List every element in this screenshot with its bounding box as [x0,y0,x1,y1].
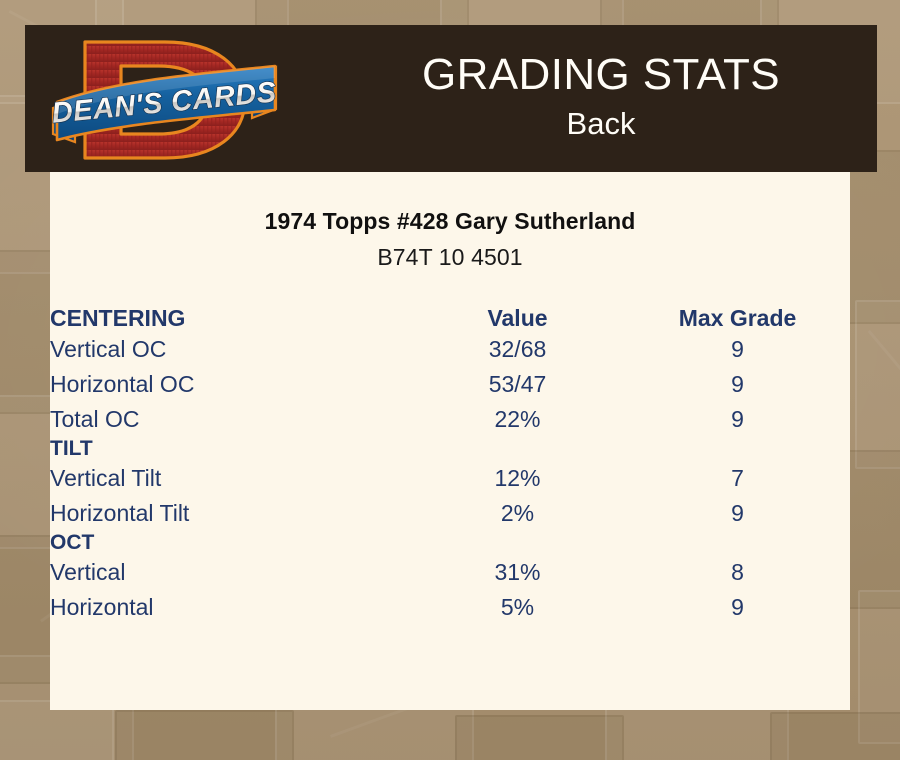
row-max-grade: 9 [625,367,850,402]
deans-cards-logo-art: DEAN'S CARDS [47,30,302,170]
header-title-block: GRADING STATS Back [325,25,877,172]
page-subtitle: Back [567,105,636,144]
row-max-grade: 9 [625,402,850,437]
section-spacer [410,531,625,555]
row-value: 31% [410,555,625,590]
row-value: 5% [410,590,625,625]
table-row: Total OC22%9 [50,402,850,437]
column-header-label: CENTERING [50,305,410,332]
row-label: Horizontal OC [50,367,410,402]
content-panel: 1974 Topps #428 Gary Sutherland B74T 10 … [50,172,850,710]
section-spacer [625,531,850,555]
table-row: Horizontal Tilt2%9 [50,496,850,531]
section-heading-row: OCT [50,531,850,555]
column-header-grade: Max Grade [625,305,850,332]
table-row: Horizontal5%9 [50,590,850,625]
page-title: GRADING STATS [422,53,780,98]
row-max-grade: 8 [625,555,850,590]
row-label: Vertical Tilt [50,461,410,496]
row-label: Vertical OC [50,332,410,367]
table-header-row: CENTERINGValueMax Grade [50,305,850,332]
table-row: Horizontal OC53/479 [50,367,850,402]
row-max-grade: 9 [625,496,850,531]
row-value: 12% [410,461,625,496]
row-label: Horizontal Tilt [50,496,410,531]
grading-stats-table: CENTERINGValueMax GradeVertical OC32/689… [50,305,850,625]
card-serial: B74T 10 4501 [50,244,850,271]
column-header-value: Value [410,305,625,332]
section-spacer [410,437,625,461]
row-value: 53/47 [410,367,625,402]
deans-cards-logo: DEAN'S CARDS [47,30,302,170]
row-value: 32/68 [410,332,625,367]
section-heading: TILT [50,437,410,461]
row-label: Total OC [50,402,410,437]
table-row: Vertical31%8 [50,555,850,590]
section-spacer [625,437,850,461]
row-value: 22% [410,402,625,437]
row-max-grade: 7 [625,461,850,496]
row-label: Vertical [50,555,410,590]
section-heading: OCT [50,531,410,555]
row-value: 2% [410,496,625,531]
section-heading-row: TILT [50,437,850,461]
row-max-grade: 9 [625,590,850,625]
row-max-grade: 9 [625,332,850,367]
table-row: Vertical Tilt12%7 [50,461,850,496]
card-title: 1974 Topps #428 Gary Sutherland [50,208,850,235]
header-bar: DEAN'S CARDS GRADING STATS Back [25,25,877,172]
table-row: Vertical OC32/689 [50,332,850,367]
row-label: Horizontal [50,590,410,625]
